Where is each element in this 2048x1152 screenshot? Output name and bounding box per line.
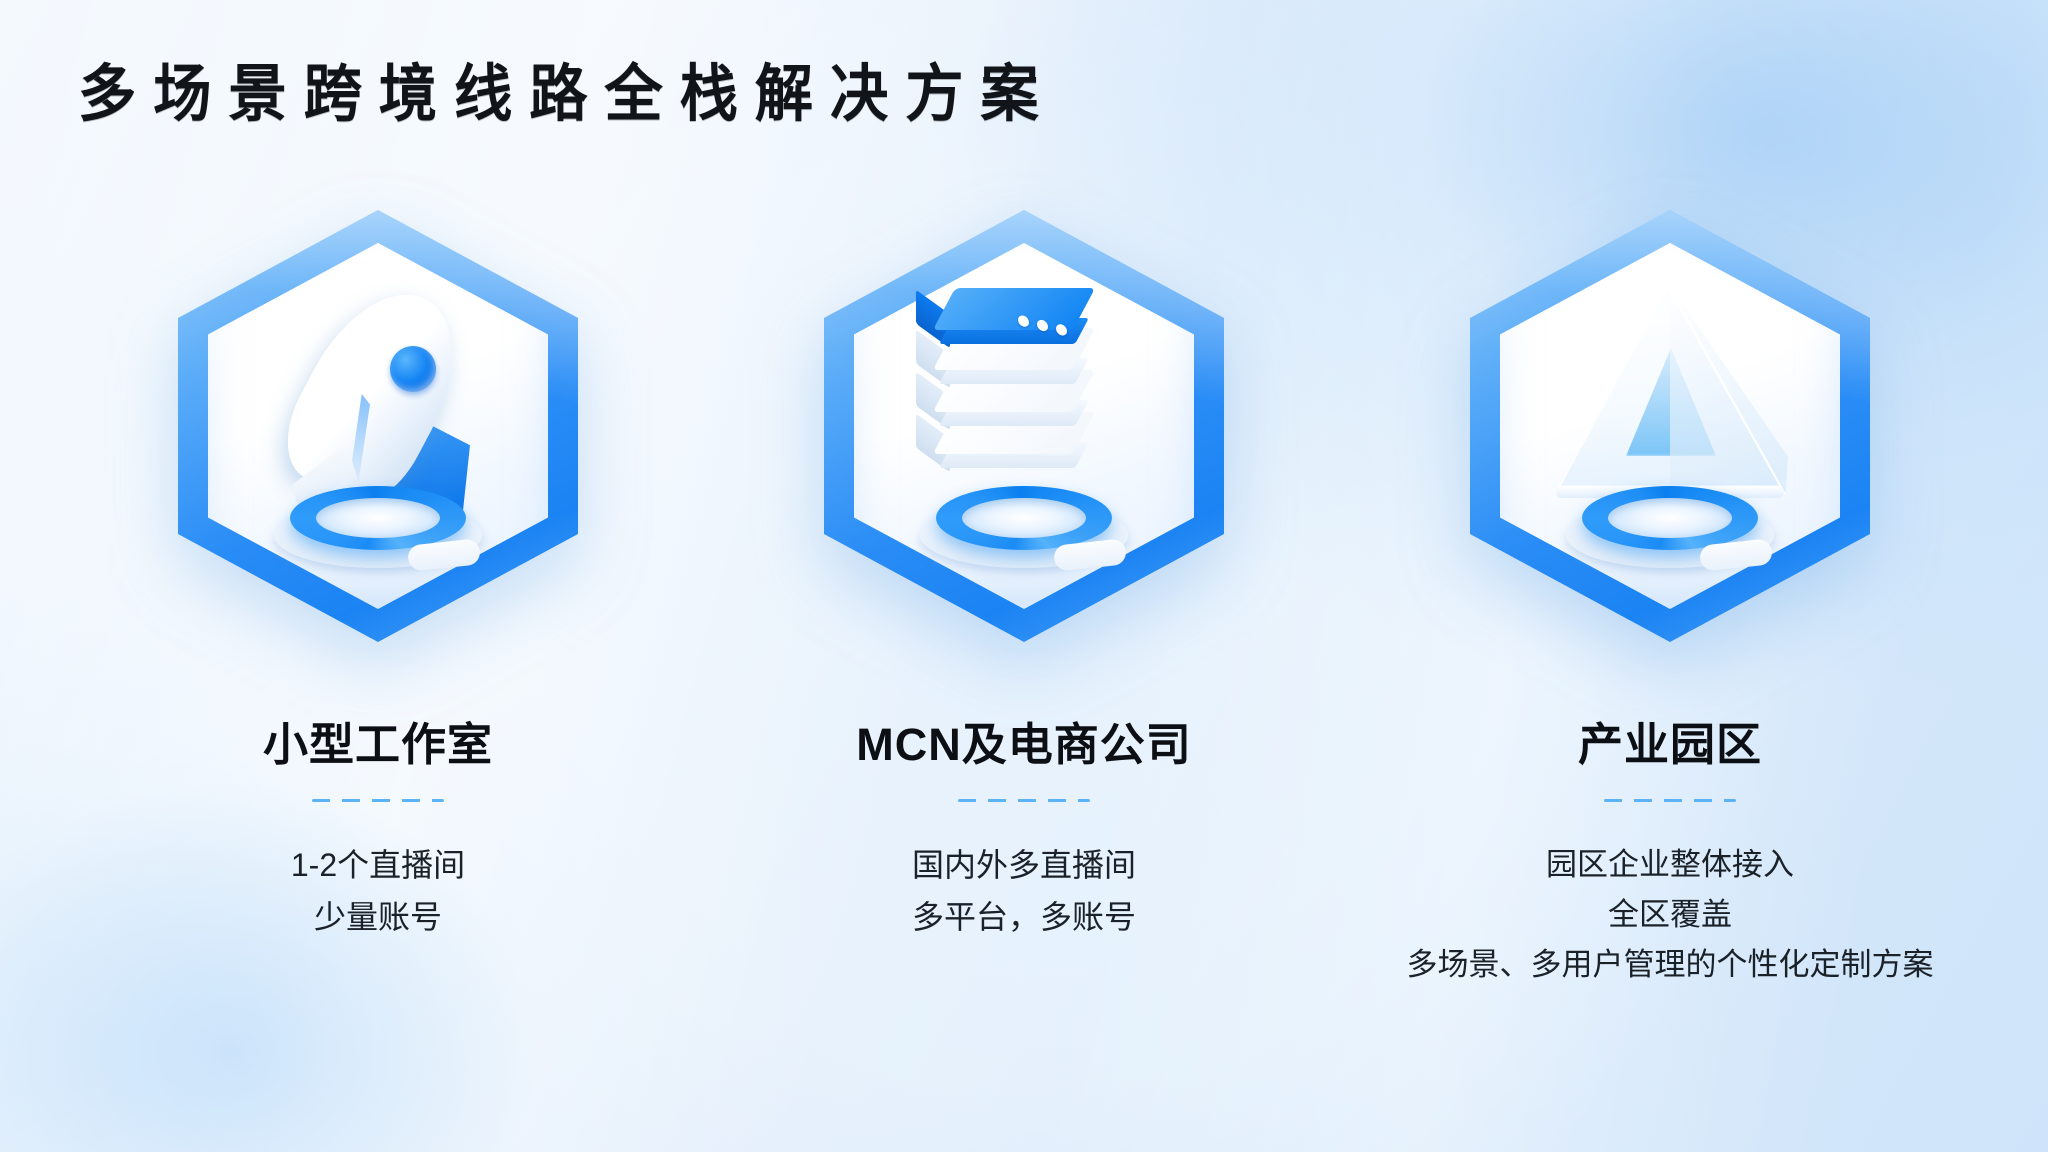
pyramid-side-face: [1670, 286, 1788, 494]
ring-hole: [316, 498, 440, 538]
card-title: MCN及电商公司: [856, 708, 1191, 773]
scenario-card-mcn[interactable]: MCN及电商公司 国内外多直播间 多平台，多账号: [789, 210, 1259, 944]
hexagon-badge: [1470, 210, 1870, 642]
page-title: 多场景跨境线路全栈解决方案: [78, 62, 1056, 129]
server-stack-3d-icon: [874, 276, 1174, 576]
card-body: 园区企业整体接入 全区覆盖 多场景、多用户管理的个性化定制方案: [1407, 840, 1934, 991]
card-body-line: 国内外多直播间: [912, 840, 1136, 892]
slide-canvas: 多场景跨境线路全栈解决方案: [0, 0, 2048, 1152]
card-body: 国内外多直播间 多平台，多账号: [912, 840, 1136, 944]
ring-platform: [916, 484, 1132, 570]
hexagon-badge: [824, 210, 1224, 642]
server-layer-active: [944, 288, 1112, 346]
card-body-line: 园区企业整体接入: [1407, 840, 1934, 890]
pyramid-shape: [1554, 286, 1786, 506]
ring-platform: [270, 484, 486, 570]
rocket-window-icon: [390, 346, 436, 392]
card-divider: [312, 799, 444, 802]
card-body-line: 1-2个直播间: [291, 840, 465, 892]
hexagon-badge: [178, 210, 578, 642]
card-divider: [958, 799, 1090, 802]
card-body: 1-2个直播间 少量账号: [291, 840, 465, 944]
glass-pyramid-3d-icon: [1520, 276, 1820, 576]
ring-platform: [1562, 484, 1778, 570]
card-body-line: 多平台，多账号: [912, 892, 1136, 944]
card-body-line: 少量账号: [291, 892, 465, 944]
server-stack-shape: [918, 300, 1132, 512]
card-title: 小型工作室: [263, 708, 493, 773]
card-title: 产业园区: [1578, 708, 1762, 773]
card-body-line: 多场景、多用户管理的个性化定制方案: [1407, 940, 1934, 990]
scenario-card-studio[interactable]: 小型工作室 1-2个直播间 少量账号: [143, 210, 613, 944]
card-body-line: 全区覆盖: [1407, 890, 1934, 940]
rocket-3d-icon: [228, 276, 528, 576]
ring-hole: [962, 498, 1086, 538]
scenario-card-industrial-park[interactable]: 产业园区 园区企业整体接入 全区覆盖 多场景、多用户管理的个性化定制方案: [1435, 210, 1905, 991]
card-divider: [1604, 799, 1736, 802]
scenario-card-row: 小型工作室 1-2个直播间 少量账号: [0, 210, 2048, 991]
ring-hole: [1608, 498, 1732, 538]
